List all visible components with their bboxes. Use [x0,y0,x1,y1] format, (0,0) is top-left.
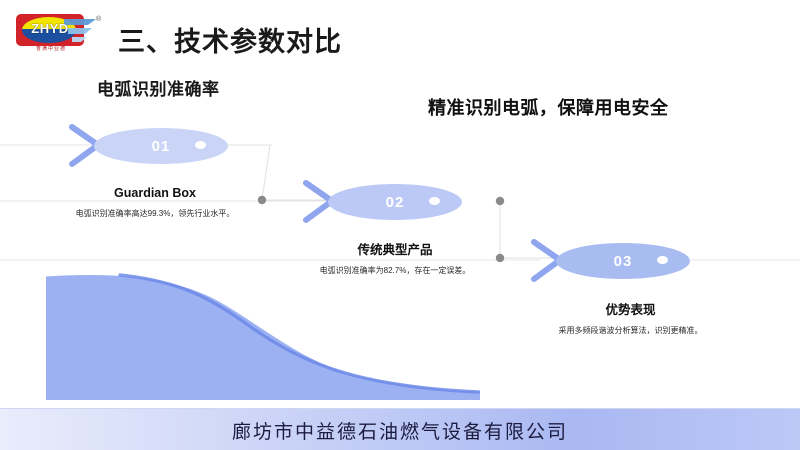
fish-number-02: 02 [328,194,462,211]
node-text-block-02: 传统典型产品 电弧识别准确率为82.7%，存在一定误差。 [300,243,490,277]
logo-brand-text: ZHYD [20,22,80,35]
node-desc-02: 电弧识别准确率为82.7%，存在一定误差。 [300,265,490,277]
fish-eye-01 [195,141,206,149]
section-subtitle: 电弧识别准确率 [97,75,220,100]
slide-canvas: ZHYD 誉满中业德 ® 三、技术参数对比 电弧识别准确率 精准识别电弧，保障用… [0,0,800,450]
node-title-03: 优势表现 [528,303,733,318]
footer-bar: 廊坊市中益德石油燃气设备有限公司 [0,408,800,450]
node-text-block-01: Guardian Box 电弧识别准确率高达99.3%，领先行业水平。 [65,186,245,220]
fish-node-01[interactable]: 01 [68,122,233,170]
fish-eye-03 [657,256,668,264]
company-logo: ZHYD 誉满中业德 ® [16,11,108,55]
fish-eye-02 [429,197,440,205]
fish-node-02[interactable]: 02 [302,178,467,226]
logo-tagline: 誉满中业德 [20,45,82,52]
node-desc-03: 采用多频段谐波分析算法，识别更精准。 [528,325,733,337]
footer-divider [0,408,800,409]
fish-number-03: 03 [556,253,690,270]
footer-company-name: 廊坊市中益德石油燃气设备有限公司 [0,417,800,444]
fish-number-01: 01 [94,138,228,155]
page-title: 三、技术参数对比 [118,20,342,59]
slide-tagline: 精准识别电弧，保障用电安全 [428,94,669,120]
node-text-block-03: 优势表现 采用多频段谐波分析算法，识别更精准。 [528,303,733,337]
logo-registered-mark: ® [96,16,101,23]
node-desc-01: 电弧识别准确率高达99.3%，领先行业水平。 [65,208,245,220]
node-title-02: 传统典型产品 [300,243,490,258]
fish-node-03[interactable]: 03 [530,237,695,285]
node-title-01: Guardian Box [65,186,245,201]
